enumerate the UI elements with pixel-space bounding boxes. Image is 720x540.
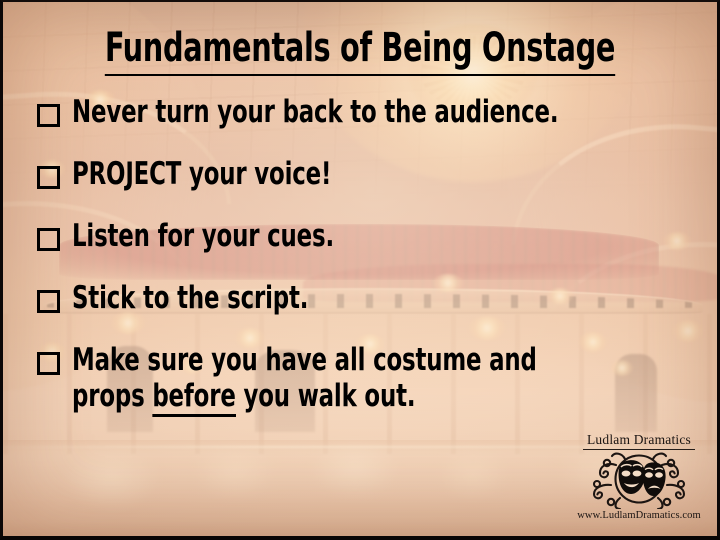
list-item-label-emphasis: before [152,378,235,417]
slide-canvas: Fundamentals of Being Onstage Never turn… [0,0,720,540]
list-item-label: Stick to the script. [72,280,581,316]
logo: Ludlam Dramatics [569,431,709,522]
logo-name: Ludlam Dramatics [583,432,695,450]
hollow-square-bullet-icon [37,352,60,375]
list-item-label: PROJECT your voice! [72,156,581,192]
list-item-label: Never turn your back to the audience. [72,94,581,130]
hollow-square-bullet-icon [37,166,60,189]
list-item: Never turn your back to the audience. [37,94,693,130]
tragedy-mask-icon [643,462,666,496]
list-item-label: Make sure you have all costume and props… [72,342,581,414]
slide-title-text: Fundamentals of Being Onstage [105,25,615,76]
list-item: Stick to the script. [37,280,693,316]
comedy-mask-icon [619,460,646,494]
list-item: Make sure you have all costume and props… [37,342,693,414]
hollow-square-bullet-icon [37,228,60,251]
comedy-tragedy-masks-icon [580,451,698,509]
hollow-square-bullet-icon [37,290,60,313]
list-item: Listen for your cues. [37,218,693,254]
list-item: PROJECT your voice! [37,156,693,192]
bullet-list: Never turn your back to the audience. PR… [37,94,693,440]
list-item-label: Listen for your cues. [72,218,581,254]
hollow-square-bullet-icon [37,104,60,127]
logo-url: www.LudlamDramatics.com [569,510,709,522]
slide-title: Fundamentals of Being Onstage [74,26,645,70]
list-item-label-part-2: you walk out. [236,378,416,414]
